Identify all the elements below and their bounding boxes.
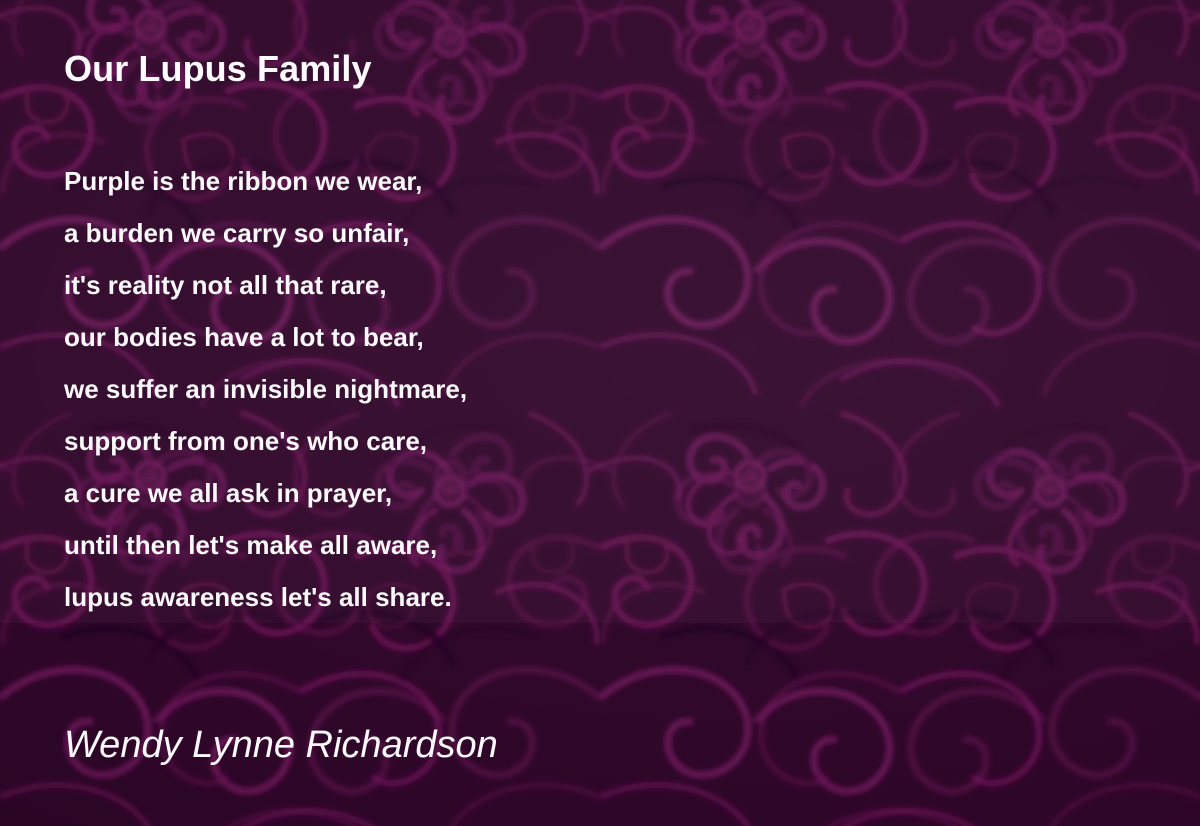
poem-card: Our Lupus Family Purple is the ribbon we… bbox=[0, 0, 1200, 826]
poem-line: support from one's who care, bbox=[64, 415, 467, 467]
poem-line: a cure we all ask in prayer, bbox=[64, 467, 467, 519]
poem-body: Purple is the ribbon we wear, a burden w… bbox=[64, 155, 467, 623]
poem-title: Our Lupus Family bbox=[64, 48, 372, 90]
poem-line: a burden we carry so unfair, bbox=[64, 207, 467, 259]
poem-content: Our Lupus Family Purple is the ribbon we… bbox=[0, 0, 1200, 826]
poem-line: Purple is the ribbon we wear, bbox=[64, 155, 467, 207]
poem-line: we suffer an invisible nightmare, bbox=[64, 363, 467, 415]
poem-author: Wendy Lynne Richardson bbox=[64, 724, 498, 767]
poem-line: lupus awareness let's all share. bbox=[64, 571, 467, 623]
poem-line: our bodies have a lot to bear, bbox=[64, 311, 467, 363]
poem-line: it's reality not all that rare, bbox=[64, 259, 467, 311]
poem-line: until then let's make all aware, bbox=[64, 519, 467, 571]
